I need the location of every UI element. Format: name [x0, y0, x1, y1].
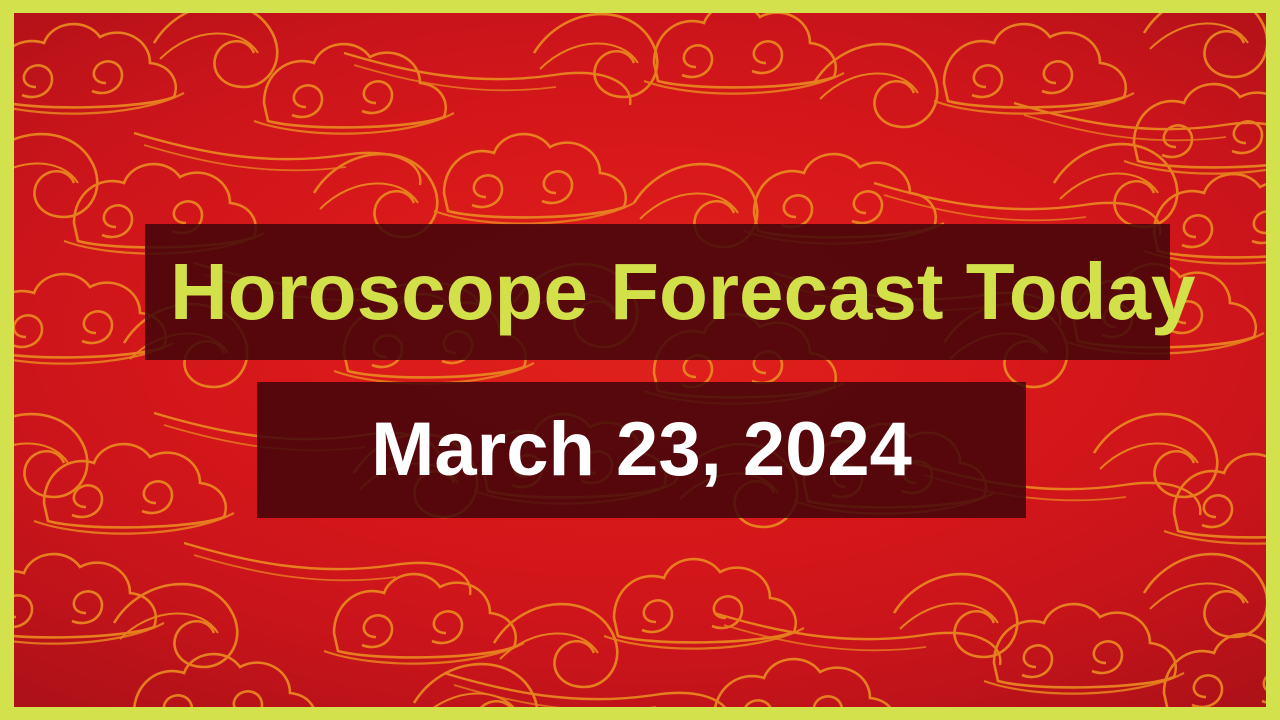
- date-banner: March 23, 2024: [257, 382, 1026, 518]
- patterned-background: Horoscope Forecast Today March 23, 2024: [14, 13, 1266, 707]
- date-text: March 23, 2024: [371, 412, 912, 488]
- page-title: Horoscope Forecast Today: [170, 252, 1195, 332]
- title-card-canvas: Horoscope Forecast Today March 23, 2024: [0, 0, 1280, 720]
- cloud-swirl-pattern-icon: [14, 13, 1266, 707]
- title-banner: Horoscope Forecast Today: [145, 224, 1170, 360]
